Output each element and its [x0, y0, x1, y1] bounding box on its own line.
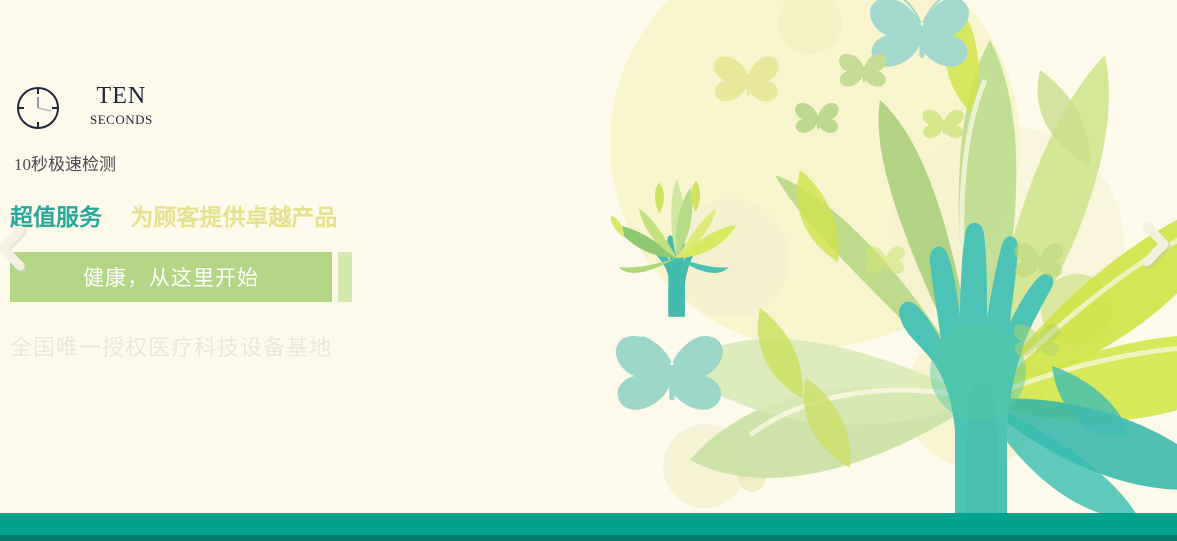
badge-text-group: TEN SECONDS — [90, 84, 153, 126]
start-health-button[interactable]: 健康，从这里开始 — [10, 252, 332, 302]
cta-group: 健康，从这里开始 — [10, 252, 352, 302]
chevron-left-icon — [0, 224, 30, 276]
badge-sub-label: SECONDS — [90, 113, 153, 126]
carousel-next-button[interactable] — [1139, 218, 1173, 270]
badge-caption: 10秒极速检测 — [14, 150, 116, 175]
cta-accent-block — [338, 252, 352, 302]
clock-icon — [14, 84, 62, 132]
tagline: 全国唯一授权医疗科技设备基地 — [10, 330, 332, 362]
badge-main-label: TEN — [90, 84, 153, 108]
speed-badge: TEN SECONDS — [14, 84, 153, 132]
carousel-prev-button[interactable] — [0, 224, 30, 276]
headline: 超值服务 为顾客提供卓越产品 — [10, 198, 337, 232]
palm-glow — [930, 324, 1026, 420]
promo-banner: TEN SECONDS 10秒极速检测 超值服务 为顾客提供卓越产品 健康，从这… — [0, 0, 1177, 541]
footer-bar-shadow — [0, 535, 1177, 541]
chevron-right-icon — [1139, 218, 1173, 270]
headline-secondary: 为顾客提供卓越产品 — [130, 204, 337, 230]
footer-bar — [0, 513, 1177, 535]
